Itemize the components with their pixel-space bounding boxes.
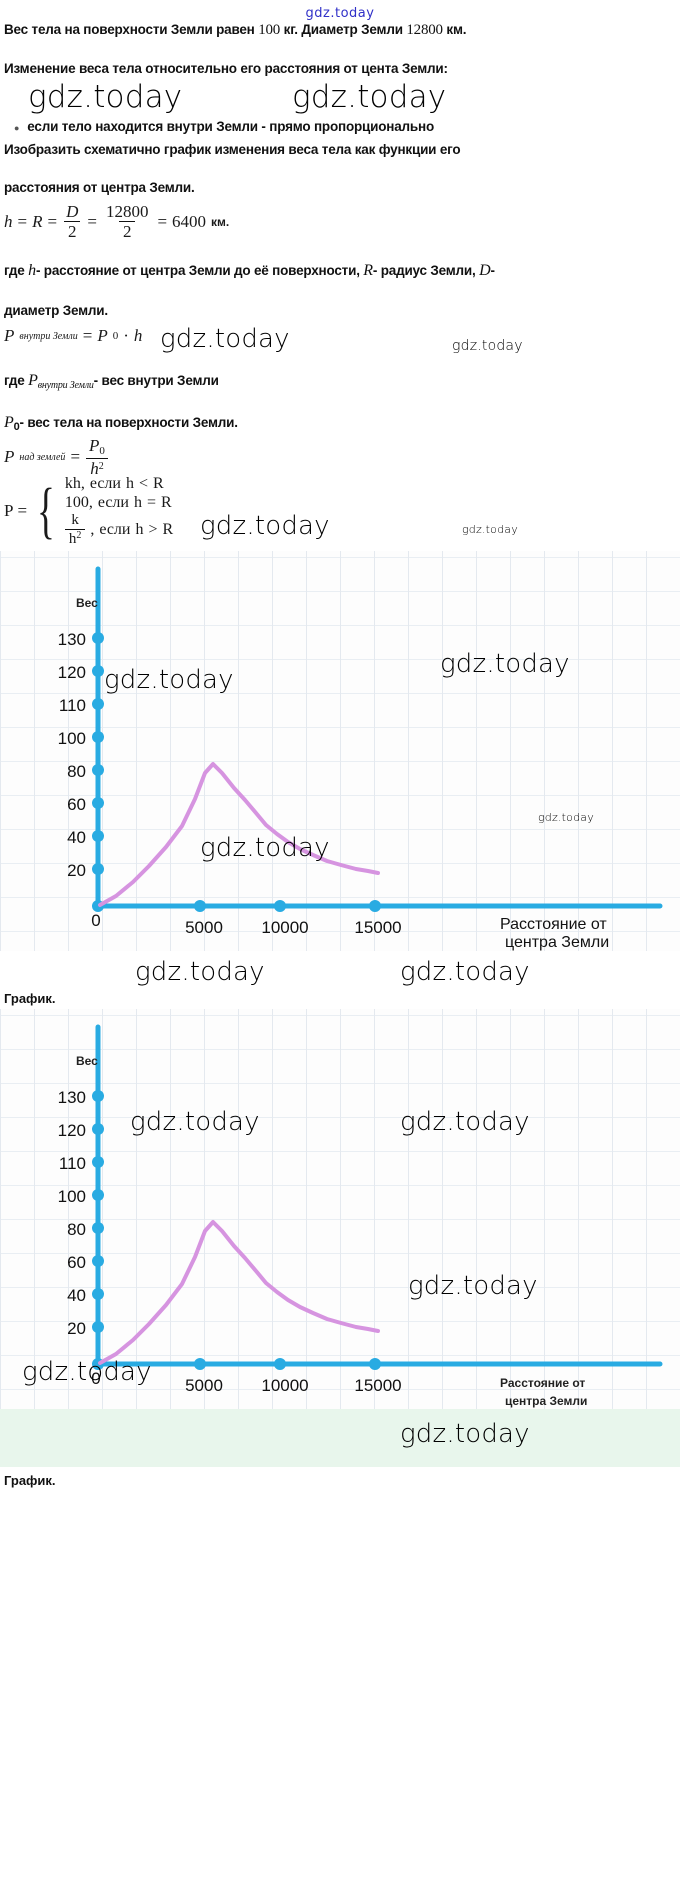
svg-text:40: 40 bbox=[67, 828, 86, 847]
p-inside-h: h bbox=[134, 326, 143, 346]
piecewise-equals: = bbox=[17, 501, 27, 521]
problem-bullet-1-text: если тело находится внутри Земли - прямо… bbox=[27, 119, 434, 135]
svg-text:40: 40 bbox=[67, 1286, 86, 1305]
piecewise-case-2: 100, если h = R bbox=[65, 494, 173, 512]
chart-1: 20 40 60 80 100 110 120 130 0 5000 10000 bbox=[0, 551, 680, 951]
where-text-3: - bbox=[491, 263, 495, 278]
p-above-equals: = bbox=[70, 447, 80, 467]
piecewise-case-1: kh, если h < R bbox=[65, 475, 173, 493]
caption-graph-1: График. bbox=[0, 985, 60, 1006]
x-axis-caption-2-line2: центра Земли bbox=[505, 1394, 587, 1408]
case1-var: h bbox=[126, 475, 134, 493]
svg-text:5000: 5000 bbox=[185, 918, 223, 937]
y-axis-caption-2: Вес bbox=[76, 1054, 98, 1068]
case1-op: < bbox=[139, 475, 148, 493]
case3-var: h bbox=[135, 521, 143, 539]
x-axis-caption-line2: центра Земли bbox=[505, 934, 609, 951]
watermark-2: gdz.today bbox=[292, 79, 446, 115]
case3-rhs: R bbox=[163, 521, 174, 539]
formula-eq-3: = bbox=[87, 212, 97, 232]
svg-text:110: 110 bbox=[59, 1154, 86, 1173]
fraction-numerator-D: D bbox=[62, 203, 82, 221]
problem-line-2: Изменение веса тела относительно его рас… bbox=[0, 61, 680, 77]
where2-P-symbol: P bbox=[28, 372, 38, 389]
y-axis-caption: Вес bbox=[76, 596, 98, 610]
case2-rhs: R bbox=[161, 494, 172, 512]
problem-line-3: Изобразить схематично график изменения в… bbox=[0, 142, 680, 158]
watermark-17: gdz.today bbox=[400, 1419, 530, 1449]
watermark-11: gdz.today bbox=[135, 957, 265, 987]
case1-expr: kh, bbox=[65, 475, 85, 493]
where-line-1: где h- расстояние от центра Земли до её … bbox=[0, 262, 680, 280]
where-text-2: - радиус Земли, bbox=[373, 263, 479, 278]
watermark-6: gdz.today bbox=[462, 523, 518, 536]
where-R-symbol: R bbox=[363, 262, 373, 279]
formula-eq-2: = bbox=[47, 212, 57, 232]
fraction-numerator-12800: 12800 bbox=[102, 203, 153, 221]
svg-text:20: 20 bbox=[67, 861, 86, 880]
where-prefix-2: где bbox=[4, 373, 28, 388]
watermark-1: gdz.today bbox=[28, 79, 182, 115]
case3-fraction: k h2 bbox=[65, 513, 86, 547]
formula-unit-km: км. bbox=[211, 215, 229, 229]
where3-P-symbol: P bbox=[4, 414, 14, 431]
formula-h-equals-R: h = R = D 2 = 12800 2 = 6400 км. bbox=[0, 203, 680, 240]
formula-piecewise: P = { kh, если h < R 100, если h = R bbox=[0, 475, 173, 547]
frac-num-p-symbol: P bbox=[89, 436, 99, 455]
footer-band: gdz.today bbox=[0, 1409, 680, 1467]
chart-2-curve bbox=[100, 1222, 378, 1363]
where-text-4: - вес внутри Земли bbox=[94, 373, 219, 388]
x-axis-caption-line1: Расстояние от bbox=[500, 916, 607, 933]
x-tick-labels-2: 0 5000 10000 15000 bbox=[91, 1369, 401, 1395]
svg-text:0: 0 bbox=[91, 911, 100, 930]
watermark-4: gdz.today bbox=[452, 338, 523, 354]
top-watermark: gdz.today bbox=[0, 0, 680, 22]
where-line-3: P0- вес тела на поверхности Земли. bbox=[0, 414, 680, 434]
where-text-1: - расстояние от центра Земли до её повер… bbox=[36, 263, 363, 278]
svg-text:130: 130 bbox=[58, 1088, 86, 1107]
fraction-p0-over-h2: P0 h2 bbox=[85, 437, 109, 477]
fraction-denominator-2b: 2 bbox=[119, 221, 136, 240]
case3-den: h2 bbox=[65, 529, 86, 547]
case3-den-pow: 2 bbox=[76, 530, 81, 541]
frac-den-sq: 2 bbox=[99, 461, 104, 472]
bullet-dot-icon: ● bbox=[14, 123, 19, 133]
formula-h-symbol: h bbox=[4, 212, 13, 232]
y-tick-labels: 20 40 60 80 100 110 120 130 bbox=[58, 630, 86, 880]
fraction-D-over-2: D 2 bbox=[62, 203, 82, 240]
formula-p-inside: Pвнутри Земли = P0 · h bbox=[0, 326, 142, 346]
svg-text:80: 80 bbox=[67, 762, 86, 781]
case2-expr: 100, bbox=[65, 494, 93, 512]
case2-var: h bbox=[134, 494, 142, 512]
p-inside-symbol: P bbox=[4, 326, 14, 346]
x-tick-labels: 0 5000 10000 15000 bbox=[91, 911, 401, 937]
watermark-12: gdz.today bbox=[400, 957, 530, 987]
where-h-symbol: h bbox=[28, 262, 36, 279]
svg-text:5000: 5000 bbox=[185, 1376, 223, 1395]
svg-text:60: 60 bbox=[67, 795, 86, 814]
caption-graph-2: График. bbox=[0, 1467, 680, 1488]
where2-P-subscript: внутри Земли bbox=[38, 380, 94, 391]
piecewise-cases: kh, если h < R 100, если h = R k h2 bbox=[65, 475, 173, 547]
svg-text:60: 60 bbox=[67, 1253, 86, 1272]
p-inside-equals: = bbox=[83, 326, 93, 346]
svg-text:120: 120 bbox=[58, 1121, 86, 1140]
p-zero-subscript: 0 bbox=[113, 330, 119, 342]
problem-line-1: Вес тела на поверхности Земли равен 100 … bbox=[0, 22, 680, 39]
formula-p-above: Pнад землей = P0 h2 bbox=[0, 437, 680, 477]
problem-line-1-a: Вес тела на поверхности Земли равен bbox=[4, 22, 258, 37]
svg-text:130: 130 bbox=[58, 630, 86, 649]
fraction-12800-over-2: 12800 2 bbox=[102, 203, 153, 240]
where-text-5: - вес тела на поверхности Земли. bbox=[20, 415, 238, 430]
fraction-denominator-2: 2 bbox=[64, 221, 81, 240]
where-line-2: где Pвнутри Земли- вес внутри Земли bbox=[0, 372, 680, 392]
frac-num-zero: 0 bbox=[99, 445, 105, 457]
document-page: gdz.today Вес тела на поверхности Земли … bbox=[0, 0, 680, 1488]
case1-rhs: R bbox=[153, 475, 164, 493]
svg-text:100: 100 bbox=[58, 1187, 86, 1206]
chart-2: 20 40 60 80 100 110 120 130 0 5000 10000… bbox=[0, 1009, 680, 1409]
piecewise-lhs: P bbox=[4, 501, 13, 521]
svg-text:100: 100 bbox=[58, 729, 86, 748]
chart-1-svg: 20 40 60 80 100 110 120 130 0 5000 10000 bbox=[0, 551, 680, 951]
case3-num-k: k bbox=[67, 513, 83, 529]
svg-text:0: 0 bbox=[91, 1369, 100, 1388]
p-zero-symbol: P bbox=[97, 326, 107, 346]
p-inside-subscript: внутри Земли bbox=[19, 331, 77, 342]
where-line-1-cont: диаметр Земли. bbox=[0, 303, 680, 319]
p-above-subscript: над землей bbox=[19, 452, 65, 463]
problem-line-4: расстояния от центра Земли. bbox=[0, 180, 680, 196]
case3-comma: , bbox=[90, 521, 94, 539]
formula-R-symbol: R bbox=[32, 212, 42, 232]
case2-if: если bbox=[98, 494, 129, 512]
p-inside-dot: · bbox=[123, 326, 129, 346]
svg-text:10000: 10000 bbox=[261, 918, 308, 937]
svg-text:80: 80 bbox=[67, 1220, 86, 1239]
y-tick-labels-2: 20 40 60 80 100 110 120 130 bbox=[58, 1088, 86, 1338]
left-brace-icon: { bbox=[37, 489, 55, 534]
problem-line-1-b: кг. Диаметр Земли bbox=[280, 22, 406, 37]
formula-eq-4: = bbox=[157, 212, 167, 232]
svg-text:110: 110 bbox=[59, 696, 86, 715]
problem-weight-value: 100 bbox=[258, 22, 280, 38]
svg-text:15000: 15000 bbox=[354, 918, 401, 937]
svg-text:120: 120 bbox=[58, 663, 86, 682]
svg-text:15000: 15000 bbox=[354, 1376, 401, 1395]
where-D-symbol: D bbox=[479, 262, 490, 279]
problem-line-1-c: км. bbox=[443, 22, 466, 37]
formula-eq-1: = bbox=[18, 212, 28, 232]
chart-2-svg: 20 40 60 80 100 110 120 130 0 5000 10000… bbox=[0, 1009, 680, 1409]
where-prefix-1: где bbox=[4, 263, 28, 278]
formula-result-6400: 6400 bbox=[172, 212, 206, 232]
svg-text:10000: 10000 bbox=[261, 1376, 308, 1395]
frac-num-p0: P0 bbox=[85, 437, 109, 458]
chart-1-curve bbox=[100, 764, 378, 905]
p-above-symbol: P bbox=[4, 447, 14, 467]
problem-diameter-value: 12800 bbox=[406, 22, 443, 38]
svg-text:20: 20 bbox=[67, 1319, 86, 1338]
case3-op: > bbox=[148, 521, 157, 539]
watermark-5: gdz.today bbox=[200, 511, 330, 541]
case1-if: если bbox=[90, 475, 121, 493]
watermark-3: gdz.today bbox=[160, 324, 290, 354]
case2-op: = bbox=[147, 494, 156, 512]
case3-if: если bbox=[99, 521, 130, 539]
piecewise-case-3: k h2 , если h > R bbox=[65, 513, 173, 547]
x-axis-caption-2-line1: Расстояние от bbox=[500, 1376, 585, 1390]
problem-bullet-1: ● если тело находится внутри Земли - пря… bbox=[0, 119, 680, 135]
